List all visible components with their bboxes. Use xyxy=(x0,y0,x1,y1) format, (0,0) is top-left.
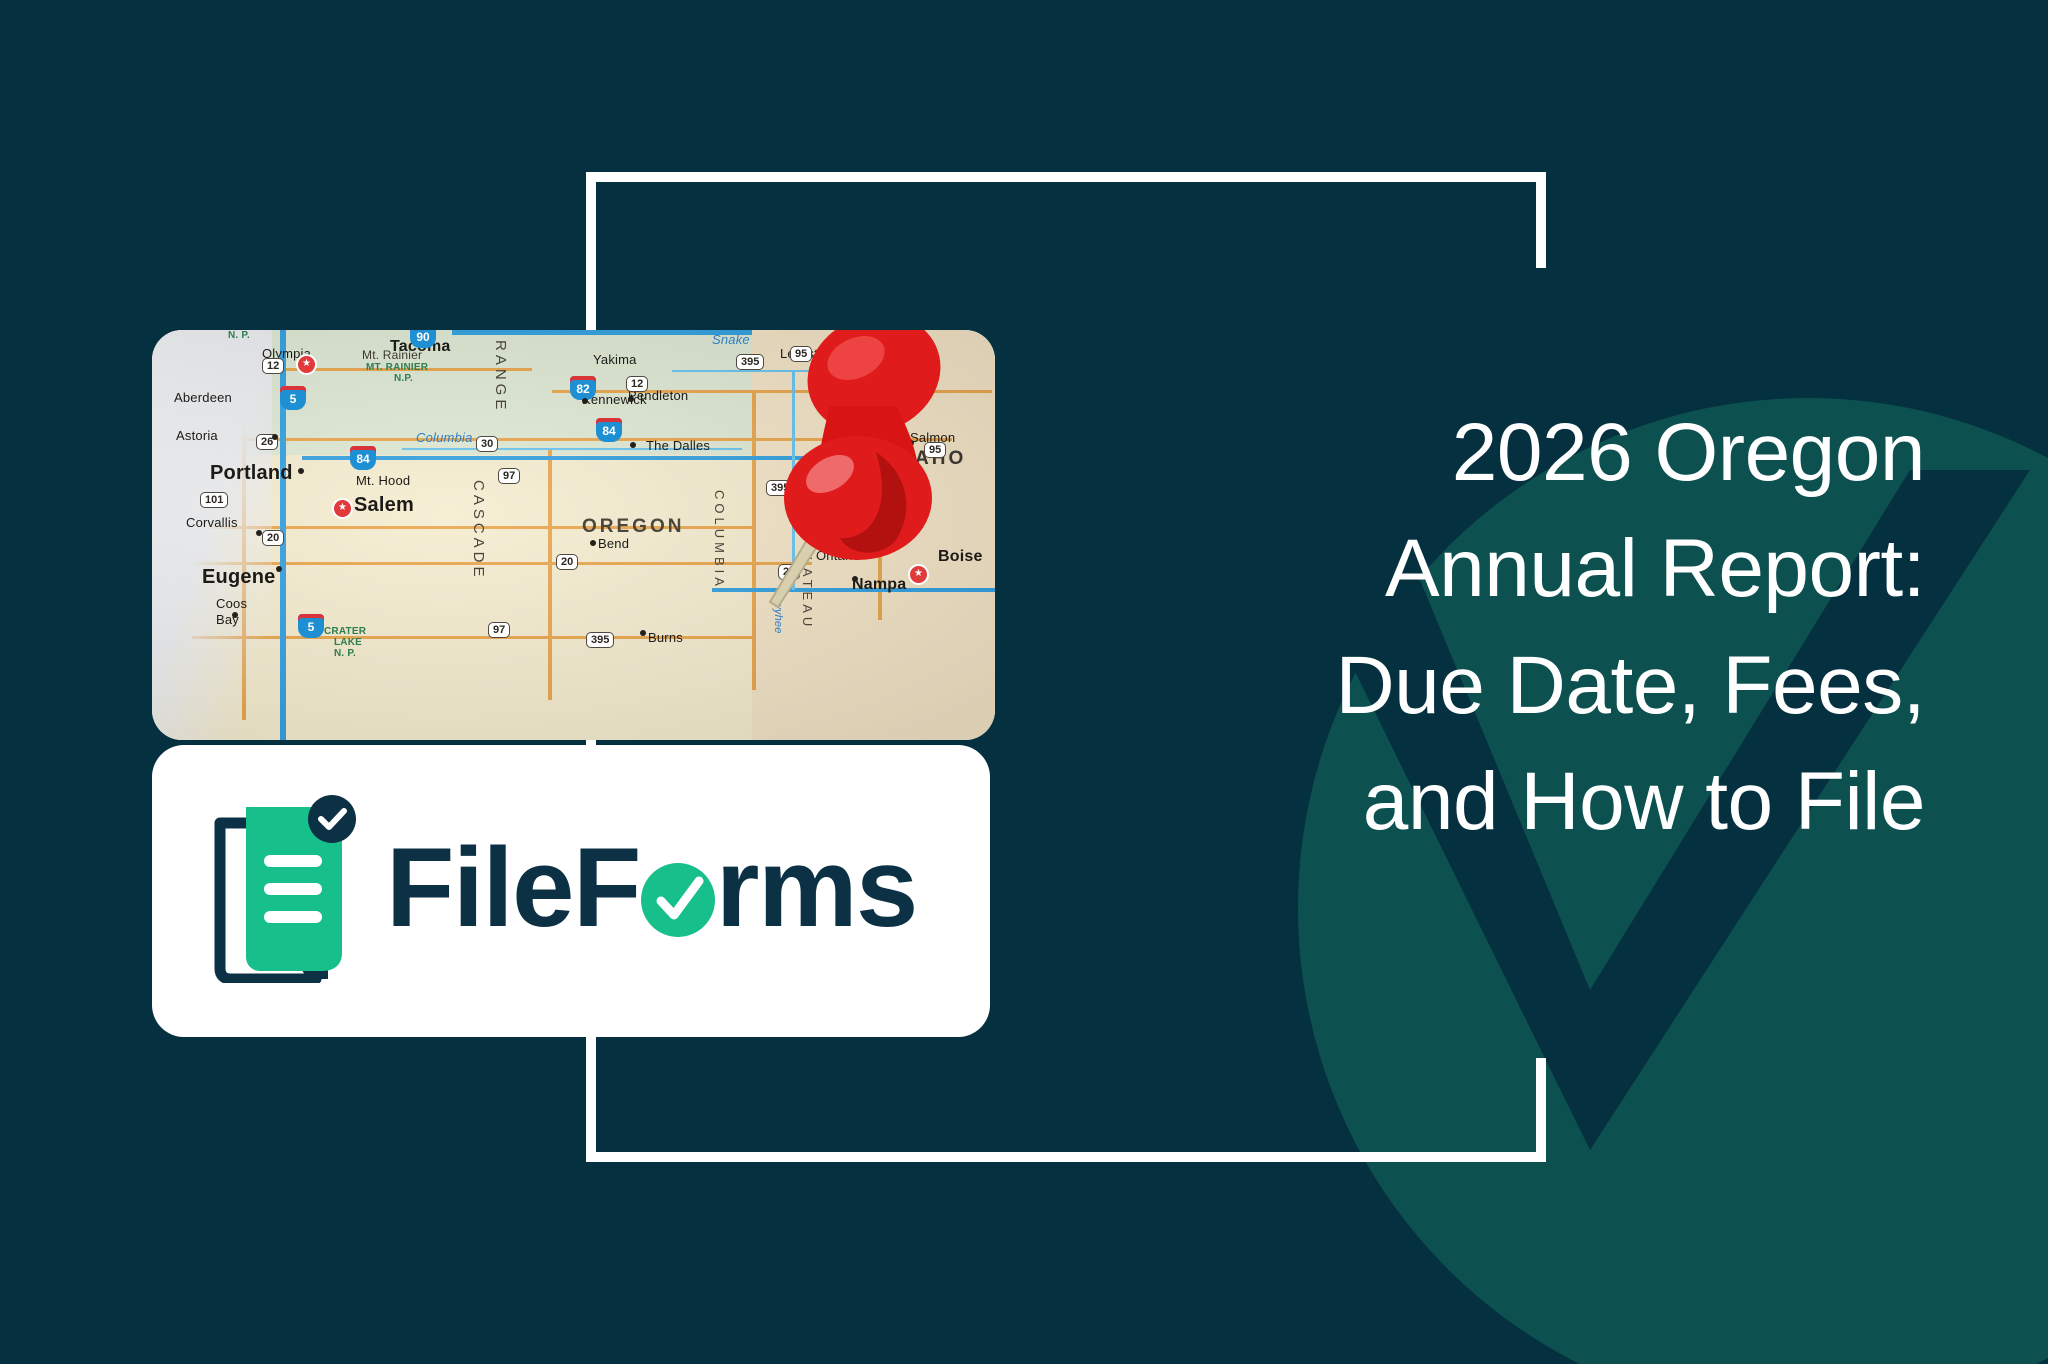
map-label-state: OREGON xyxy=(582,516,684,538)
page-title: 2026 Oregon Annual Report: Due Date, Fee… xyxy=(1185,395,1925,861)
title-line-1: 2026 Oregon xyxy=(1185,395,1925,511)
capital-star-icon: ★ xyxy=(332,498,353,519)
logo-lockup: FileFrms xyxy=(212,793,917,983)
map-label-city: Coos xyxy=(216,596,247,611)
route-shield: 12 xyxy=(262,358,284,374)
route-shield: 395 xyxy=(586,632,614,648)
map-label-park: N.P. xyxy=(394,373,413,384)
map-label-city: Bend xyxy=(598,536,629,551)
map-label-city: Portland xyxy=(210,462,293,485)
capital-star-icon: ★ xyxy=(296,354,317,375)
route-shield: 101 xyxy=(200,492,228,508)
poster-canvas: OREGON IDAHO RANGE CASCADE COLUMBIA PLAT… xyxy=(0,0,2048,1364)
oregon-map-card: OREGON IDAHO RANGE CASCADE COLUMBIA PLAT… xyxy=(152,330,995,740)
map-label-park: N. P. xyxy=(334,648,356,659)
title-line-4: and How to File xyxy=(1185,744,1925,860)
map-label-park: CRATER xyxy=(324,626,366,637)
fileforms-logo-card: FileFrms xyxy=(152,745,990,1037)
document-check-icon xyxy=(212,793,364,983)
map-label-city: Astoria xyxy=(176,428,218,443)
frame-bottom-right-line xyxy=(1536,1058,1546,1162)
interstate-shield: 82 xyxy=(570,376,596,400)
map-label-city: Aberdeen xyxy=(174,390,232,405)
frame-top-right-line xyxy=(1536,172,1546,268)
route-shield: 20 xyxy=(262,530,284,546)
logo-word-file: File xyxy=(386,832,573,944)
map-label-park: N. P. xyxy=(228,330,250,341)
route-shield: 97 xyxy=(498,468,520,484)
interstate-shield: 84 xyxy=(596,418,622,442)
map-label-park: LAKE xyxy=(334,637,362,648)
interstate-shield: 5 xyxy=(280,386,306,410)
map-label-water: Snake xyxy=(712,332,750,347)
map-label-city: Yakima xyxy=(593,352,637,367)
map-image: OREGON IDAHO RANGE CASCADE COLUMBIA PLAT… xyxy=(152,330,995,740)
map-label-city: Mt. Hood xyxy=(356,473,410,488)
map-label-peak: Mt. Rainier xyxy=(362,348,422,362)
map-label-city: Salem xyxy=(354,494,414,517)
logo-o-check-icon xyxy=(641,863,715,937)
route-shield: 97 xyxy=(488,622,510,638)
map-label-water: Columbia xyxy=(416,430,473,445)
title-line-2: Annual Report: xyxy=(1185,511,1925,627)
route-shield: 30 xyxy=(476,436,498,452)
route-shield: 12 xyxy=(626,376,648,392)
logo-word-f: F xyxy=(573,832,640,944)
interstate-shield: 84 xyxy=(350,446,376,470)
route-shield: 20 xyxy=(556,554,578,570)
title-line-3: Due Date, Fees, xyxy=(1185,628,1925,744)
logo-wordmark: FileFrms xyxy=(386,832,917,944)
map-label-city: Corvallis xyxy=(186,515,238,530)
interstate-shield: 90 xyxy=(410,330,436,348)
frame-bottom-line xyxy=(586,1152,1546,1162)
frame-top-line xyxy=(586,172,1546,182)
logo-word-rms: rms xyxy=(716,832,917,944)
map-label-city: Burns xyxy=(648,630,683,645)
map-label-park: MT. RAINIER xyxy=(366,362,428,373)
map-label-city: The Dalles xyxy=(646,438,710,453)
map-label-range: COLUMBIA xyxy=(712,490,727,590)
push-pin-icon xyxy=(756,330,986,632)
map-label-range: CASCADE xyxy=(470,480,487,581)
map-label-range: RANGE xyxy=(492,340,509,413)
interstate-shield: 5 xyxy=(298,614,324,638)
map-label-city: Eugene xyxy=(202,566,275,589)
